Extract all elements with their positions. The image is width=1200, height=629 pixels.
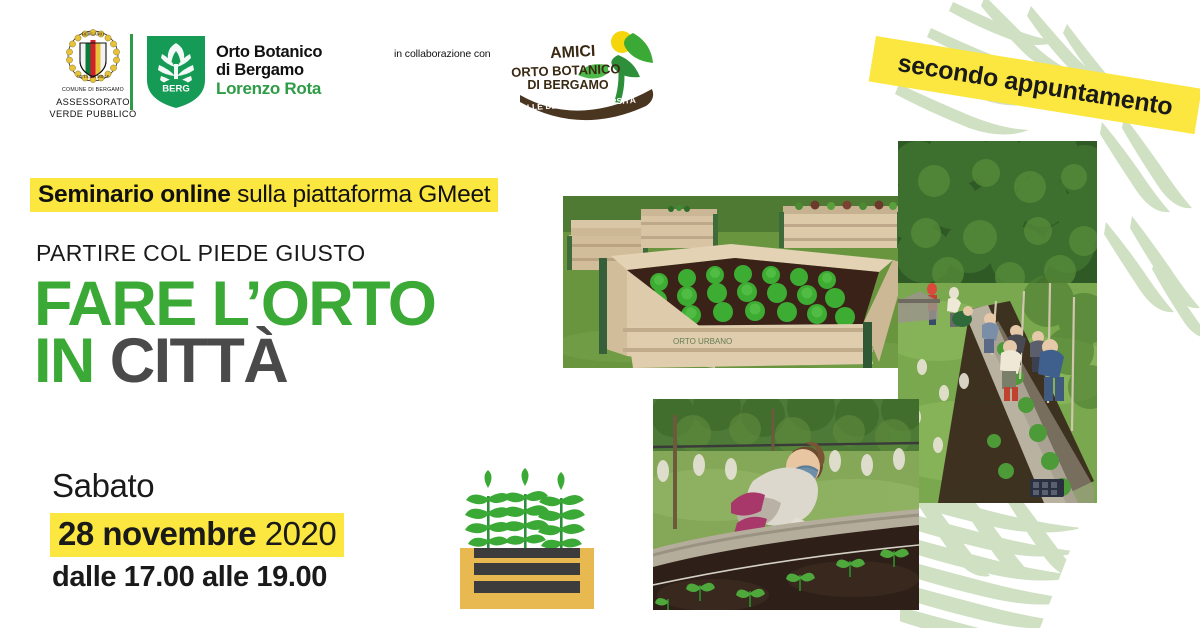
svg-text:BERG: BERG [162, 84, 189, 95]
svg-text:AMICI: AMICI [550, 43, 596, 62]
orto-line1: Orto Botanico [216, 44, 322, 62]
orto-line3: Lorenzo Rota [216, 79, 322, 98]
event-date-badge: 28 novembre 2020 [50, 513, 344, 557]
amici-orto-botanico-icon: AMICI ORTO BOTANICO DI BERGAMO VALLE DEL… [500, 25, 660, 125]
poster-root: BERGAMO CITTÀ DEI MILLE COMUNE DI BERGAM… [0, 0, 1200, 629]
assessorato-line1: ASSESSORATO [49, 97, 136, 109]
orto-botanico-logo: BERG Orto Botanico di Bergamo Lorenzo Ro… [145, 34, 322, 110]
orto-botanico-shield-icon: BERG [145, 34, 207, 110]
comune-di-bergamo-logo: BERGAMO CITTÀ DEI MILLE COMUNE DI BERGAM… [47, 28, 139, 118]
seminario-bold: Seminario online [38, 181, 231, 208]
header-logos: BERGAMO CITTÀ DEI MILLE COMUNE DI BERGAM… [0, 0, 880, 130]
planter-crate-illustration [452, 468, 602, 613]
title-line2-grey: CITTÀ [110, 326, 287, 396]
leaf-stripe-pattern-right [1098, 110, 1200, 340]
assessorato-line2: VERDE PUBBLICO [49, 109, 136, 121]
ribbon-label: secondo appuntamento [896, 49, 1175, 122]
photo-valley-garden-volunteers [898, 141, 1097, 503]
seminario-rest: sulla piattaforma GMeet [231, 181, 491, 208]
bergamo-crest-icon: BERGAMO CITTÀ DEI MILLE [64, 28, 122, 86]
event-day: Sabato [52, 467, 154, 505]
assessorato-label: ASSESSORATO VERDE PUBBLICO [49, 97, 136, 120]
page-title: FARE L’ORTO IN CITTÀ [34, 276, 435, 390]
photo-person-planting [653, 399, 919, 610]
logo-divider [130, 34, 133, 110]
crest-caption: COMUNE DI BERGAMO [62, 87, 124, 93]
ribbon-badge: secondo appuntamento [869, 36, 1200, 134]
event-hours: dalle 17.00 alle 19.00 [52, 561, 327, 594]
seminario-banner: Seminario online sulla piattaforma GMeet [30, 178, 498, 212]
collaboration-label: in collaborazione con [394, 48, 491, 60]
event-date: 28 novembre [58, 515, 256, 552]
svg-text:ORTO URBANO: ORTO URBANO [673, 337, 732, 346]
title-line2-green: IN [34, 326, 110, 396]
svg-text:CITTÀ DEI MILLE: CITTÀ DEI MILLE [77, 74, 110, 79]
svg-text:BERGAMO: BERGAMO [82, 32, 104, 37]
orto-line2: di Bergamo [216, 62, 322, 80]
svg-text:DI BERGAMO: DI BERGAMO [527, 78, 609, 92]
photo-raised-garden-beds: ORTO URBANO [563, 196, 918, 368]
kicker-text: PARTIRE COL PIEDE GIUSTO [36, 240, 366, 267]
event-year: 2020 [256, 515, 336, 552]
